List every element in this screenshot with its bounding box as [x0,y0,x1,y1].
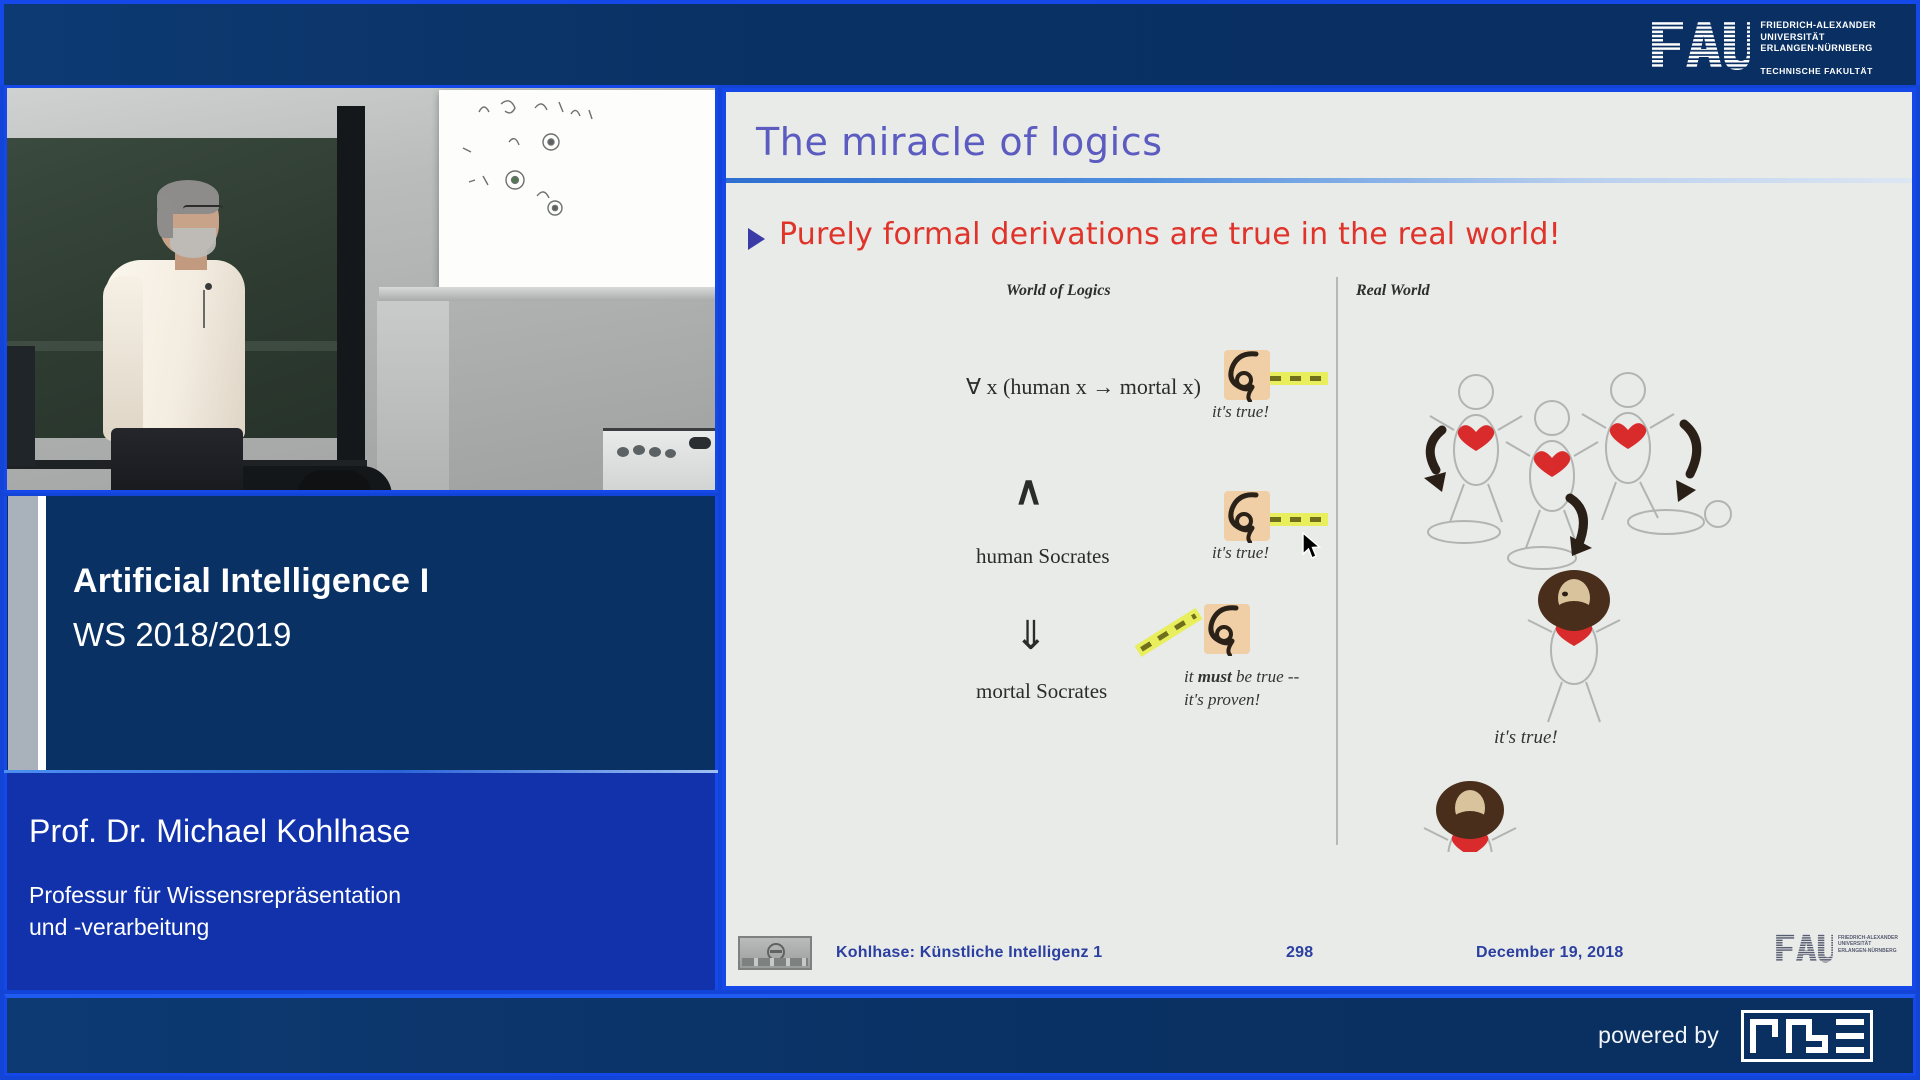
accent-bar-gray [8,496,38,772]
player-window: FRIEDRICH-ALEXANDER UNIVERSITÄT ERLANGEN… [0,0,1920,1080]
footer-fau-logo: FRIEDRICH-ALEXANDER UNIVERSITÄT ERLANGEN… [1775,932,1898,964]
screen-ledge [379,287,718,301]
bottom-bar: powered by [4,994,1916,1076]
ear-icon-1 [1224,350,1270,400]
label-its-true-1: it's true! [1212,402,1269,422]
footer-fau-logo-text: FRIEDRICH-ALEXANDER UNIVERSITÄT ERLANGEN… [1838,932,1898,954]
slide-title-rule [726,178,1912,183]
formula-premise: ∀ x (human x → mortal x) [966,374,1201,400]
course-term: WS 2018/2019 [73,610,429,660]
ear-icon-2 [1224,491,1270,541]
label-its-true-2: it's true! [1212,543,1269,563]
column-divider [1336,277,1338,845]
powered-by-label: powered by [1598,1022,1719,1049]
lecturer-hair-side [157,198,173,238]
lecturer-trousers [111,428,243,493]
wall-pillar [377,301,449,493]
lecturer-glasses [183,205,223,215]
label-its-true-right: it's true! [1494,727,1558,749]
footer-page-number: 298 [1286,944,1313,962]
lecturer-beard [170,228,216,258]
highlight-beam-3 [1135,608,1203,657]
fau-org-line1: FRIEDRICH-ALEXANDER [1760,20,1876,32]
slide-title: The miracle of logics [756,120,1163,164]
presenter-role: Professur für Wissensrepräsentation und … [29,879,715,943]
mouse-cursor [1301,531,1323,566]
fau-org-line2: UNIVERSITÄT [1760,32,1876,44]
chalkboard-frame [337,106,365,466]
app-header: FRIEDRICH-ALEXANDER UNIVERSITÄT ERLANGEN… [0,0,1920,85]
highlight-beam-2 [1266,513,1328,526]
presenter-block: Prof. Dr. Michael Kohlhase Professur für… [4,773,718,990]
cc-bar [770,950,782,953]
highlight-beam-1 [1266,372,1328,385]
fau-faculty: TECHNISCHE FAKULTÄT [1760,66,1876,78]
rrze-logo-icon [1741,1010,1873,1062]
lecture-video[interactable] [4,85,718,493]
lecturer-microphone-cable [203,290,205,328]
front-desk [603,428,718,493]
real-world-figures [1346,282,1912,852]
presenter-role-line2: und -verarbeitung [29,911,715,943]
accent-bar-white [38,496,46,772]
projection-screen [439,90,718,287]
footer-title: Kohlhase: Künstliche Intelligenz 1 [836,944,1102,962]
label-its-proven: it's proven! [1184,690,1260,710]
lecturer-microphone [205,283,212,290]
slide-panel[interactable]: The miracle of logics Purely formal deri… [722,88,1916,990]
course-title-text: Artificial Intelligence I WS 2018/2019 [73,558,429,660]
footer-org-line3: ERLANGEN-NÜRNBERG [1838,948,1898,954]
must-em: must [1198,667,1232,686]
formula-conclusion: mortal Socrates [976,679,1107,704]
fau-logo: FRIEDRICH-ALEXANDER UNIVERSITÄT ERLANGEN… [1650,18,1876,77]
presenter-name: Prof. Dr. Michael Kohlhase [29,811,715,851]
label-must-be-true: it must be true -- [1184,667,1299,687]
board-rail-left [7,346,35,466]
footer-date: December 19, 2018 [1476,944,1624,962]
fau-logo-text: FRIEDRICH-ALEXANDER UNIVERSITÄT ERLANGEN… [1760,18,1876,77]
slide-bullet: Purely formal derivations are true in th… [748,217,1561,252]
must-pre: it [1184,667,1198,686]
cc-strip [742,958,808,966]
course-name: Artificial Intelligence I [73,558,429,604]
fau-logo-icon [1650,18,1750,72]
presenter-role-line1: Professur für Wissensrepräsentation [29,879,715,911]
course-title-block: Artificial Intelligence I WS 2018/2019 [4,496,718,772]
fau-org-line3: ERLANGEN-NÜRNBERG [1760,43,1876,55]
must-post: be true -- [1232,667,1300,686]
bullet-text: Purely formal derivations are true in th… [779,217,1561,252]
formula-entails: ⇓ [1014,612,1048,659]
column-header-left: World of Logics [1006,282,1111,300]
lecturer-arm [103,276,143,441]
bullet-triangle-icon [748,228,765,250]
creative-commons-icon [738,936,812,970]
formula-conjunction: ∧ [1014,467,1043,514]
slide-footer: Kohlhase: Künstliche Intelligenz 1 298 D… [726,934,1912,978]
footer-fau-logo-icon [1775,932,1833,964]
ear-icon-3 [1204,604,1250,654]
formula-fact: human Socrates [976,544,1110,569]
